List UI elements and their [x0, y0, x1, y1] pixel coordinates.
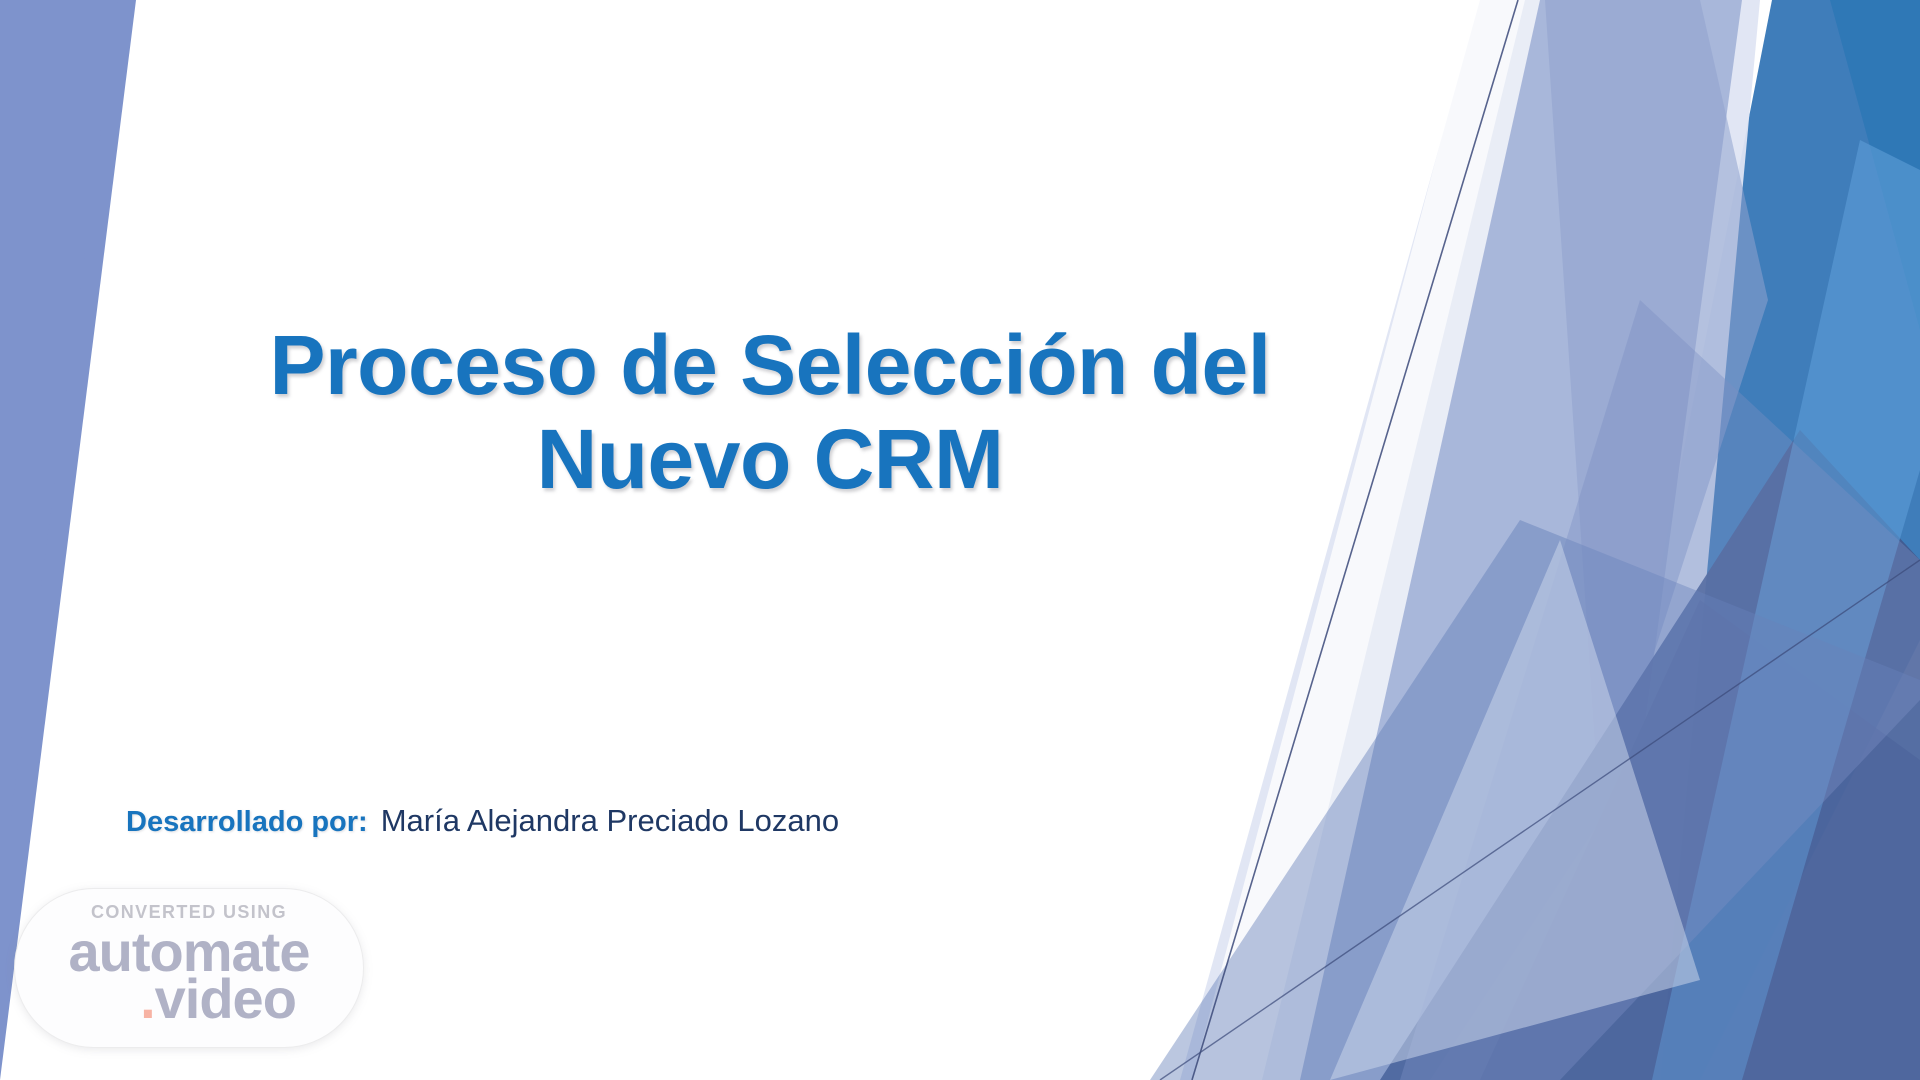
mid-periwinkle-facet: [1262, 0, 1742, 1080]
lower-navy-mass: [1380, 430, 1920, 1080]
converted-using-watermark: CONVERTED USING automate . video: [14, 888, 364, 1048]
watermark-dot-accent: .: [140, 972, 155, 1025]
right-blue-band: [1560, 0, 1920, 1080]
author-block: Desarrollado por: María Alejandra Precia…: [126, 803, 839, 839]
lower-right-wash: [1150, 520, 1920, 1080]
left-wedge-shape-inner: [0, 0, 118, 900]
pale-bottom-triangle: [1330, 540, 1700, 1080]
author-label: Desarrollado por:: [126, 806, 368, 839]
watermark-suffix-row: . video: [140, 972, 296, 1025]
crossing-sheet: [1400, 300, 1920, 1080]
bright-blue-ribbon: [1652, 140, 1920, 1080]
light-facet-left: [1192, 0, 1540, 1080]
hairline-diagonal-bottom: [1160, 560, 1920, 1080]
author-name: María Alejandra Preciado Lozano: [381, 803, 839, 839]
lower-navy-mass-2: [1480, 600, 1920, 1080]
hairline-diagonal-top: [1192, 0, 1518, 1080]
pale-lavender-sheet: [1180, 0, 1760, 1080]
right-blue-band-2: [1700, 0, 1920, 330]
title-block: Proceso de Selección del Nuevo CRM: [180, 318, 1360, 506]
upper-bluegray-facet: [1545, 0, 1768, 820]
presentation-slide: Proceso de Selección del Nuevo CRM Desar…: [0, 0, 1920, 1080]
watermark-eyebrow-text: CONVERTED USING: [91, 903, 287, 921]
page-title: Proceso de Selección del Nuevo CRM: [180, 318, 1360, 506]
watermark-suffix-text: video: [155, 972, 296, 1025]
